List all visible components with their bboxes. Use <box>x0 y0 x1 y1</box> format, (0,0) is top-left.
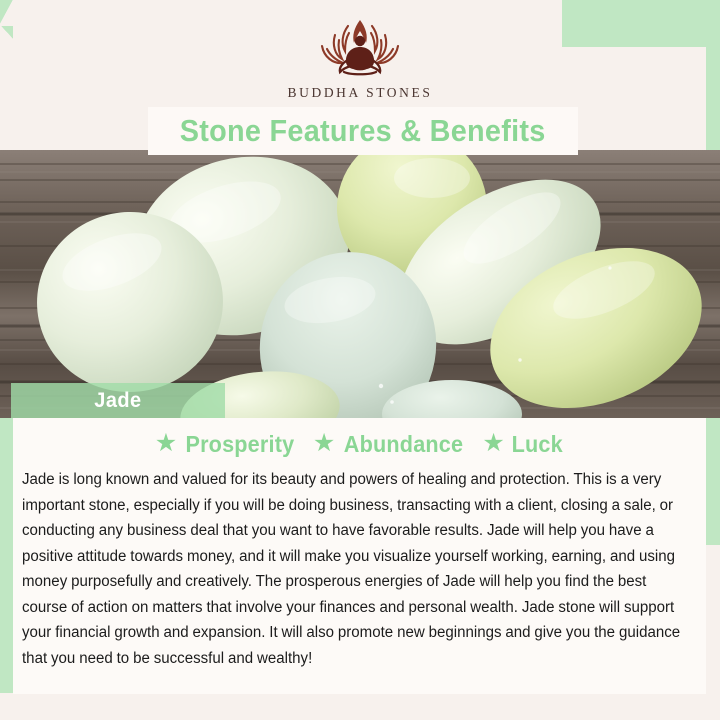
benefit-item-prosperity: ★ Prosperity <box>155 431 298 458</box>
benefits-row: ★ Prosperity ★ Abundance ★ Luck <box>13 418 706 458</box>
photo-illustration <box>0 150 720 418</box>
stone-name: Jade <box>94 389 141 413</box>
benefit-item-luck: ★ Luck <box>482 431 564 458</box>
decor-band-left <box>0 415 13 693</box>
star-icon: ★ <box>313 431 335 456</box>
footer-strip <box>0 694 720 720</box>
title-banner: Stone Features & Benefits <box>148 107 578 155</box>
jade-stones-photo <box>0 150 720 418</box>
benefit-label: Luck <box>511 431 562 458</box>
lotus-meditation-icon <box>304 14 416 80</box>
content-panel: ★ Prosperity ★ Abundance ★ Luck Jade is … <box>13 418 706 694</box>
page-title: Stone Features & Benefits <box>180 113 546 149</box>
brand-logo: BUDDHA STONES <box>0 14 720 101</box>
benefit-label: Prosperity <box>186 431 295 458</box>
star-icon: ★ <box>482 431 504 456</box>
star-icon: ★ <box>155 431 177 456</box>
benefit-label: Abundance <box>344 431 463 458</box>
infographic-page: BUDDHA STONES Stone Features & Benefits <box>0 0 720 720</box>
brand-name: BUDDHA STONES <box>288 85 433 101</box>
stone-description: Jade is long known and valued for its be… <box>22 467 688 671</box>
stone-label-bar: Jade <box>11 383 225 418</box>
benefit-item-abundance: ★ Abundance <box>313 431 467 458</box>
